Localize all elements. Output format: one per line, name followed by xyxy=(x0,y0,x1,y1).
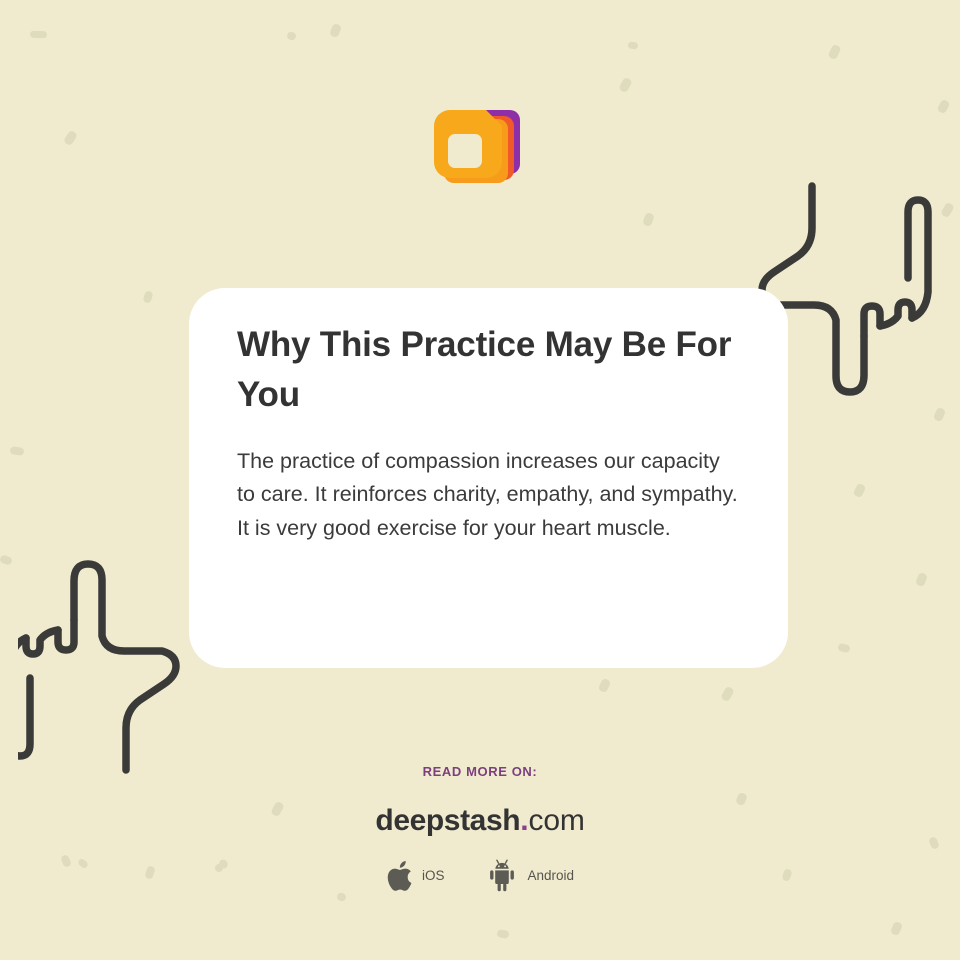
confetti-dash xyxy=(10,446,25,456)
ios-store-badge[interactable]: iOS xyxy=(386,860,445,892)
confetti-dash xyxy=(598,678,612,694)
pointing-hand-left-icon xyxy=(18,552,218,782)
android-label: Android xyxy=(527,868,574,883)
confetti-dash xyxy=(915,572,928,587)
confetti-dash xyxy=(496,929,509,939)
logo-inner-cutout xyxy=(448,134,482,168)
confetti-dash xyxy=(936,99,950,115)
confetti-dash xyxy=(628,41,639,49)
android-store-badge[interactable]: Android xyxy=(486,859,574,892)
footer: READ MORE ON: deepstash.com iOS xyxy=(0,764,960,892)
confetti-dash xyxy=(827,44,841,61)
confetti-dash xyxy=(720,686,735,703)
brand-dot: . xyxy=(520,804,528,837)
confetti-dash xyxy=(940,202,955,219)
android-icon xyxy=(486,859,518,892)
confetti-dash xyxy=(837,643,851,654)
store-badges: iOS Android xyxy=(0,859,960,892)
confetti-dash xyxy=(336,892,347,902)
confetti-dash xyxy=(890,921,904,937)
confetti-dash xyxy=(853,483,867,499)
card-body-text: The practice of compassion increases our… xyxy=(237,445,740,544)
confetti-dash xyxy=(618,77,633,94)
poster-canvas: Why This Practice May Be For You The pra… xyxy=(0,0,960,960)
brand-wordmark[interactable]: deepstash.com xyxy=(0,806,960,836)
confetti-dash xyxy=(0,554,13,566)
ios-label: iOS xyxy=(422,868,445,883)
card-title: Why This Practice May Be For You xyxy=(237,320,740,419)
apple-icon xyxy=(386,860,413,892)
confetti-dash xyxy=(286,31,297,42)
confetti-dash xyxy=(63,130,78,147)
confetti-dash xyxy=(142,290,153,304)
deepstash-logo xyxy=(424,102,524,202)
confetti-dash xyxy=(329,23,342,38)
confetti-dash xyxy=(642,212,655,227)
read-more-label: READ MORE ON: xyxy=(0,764,960,779)
confetti-dash xyxy=(30,31,47,39)
quote-card: Why This Practice May Be For You The pra… xyxy=(189,288,788,668)
brand-name: deepstash xyxy=(375,804,520,837)
confetti-dash xyxy=(933,407,947,423)
brand-tld: com xyxy=(529,804,585,837)
